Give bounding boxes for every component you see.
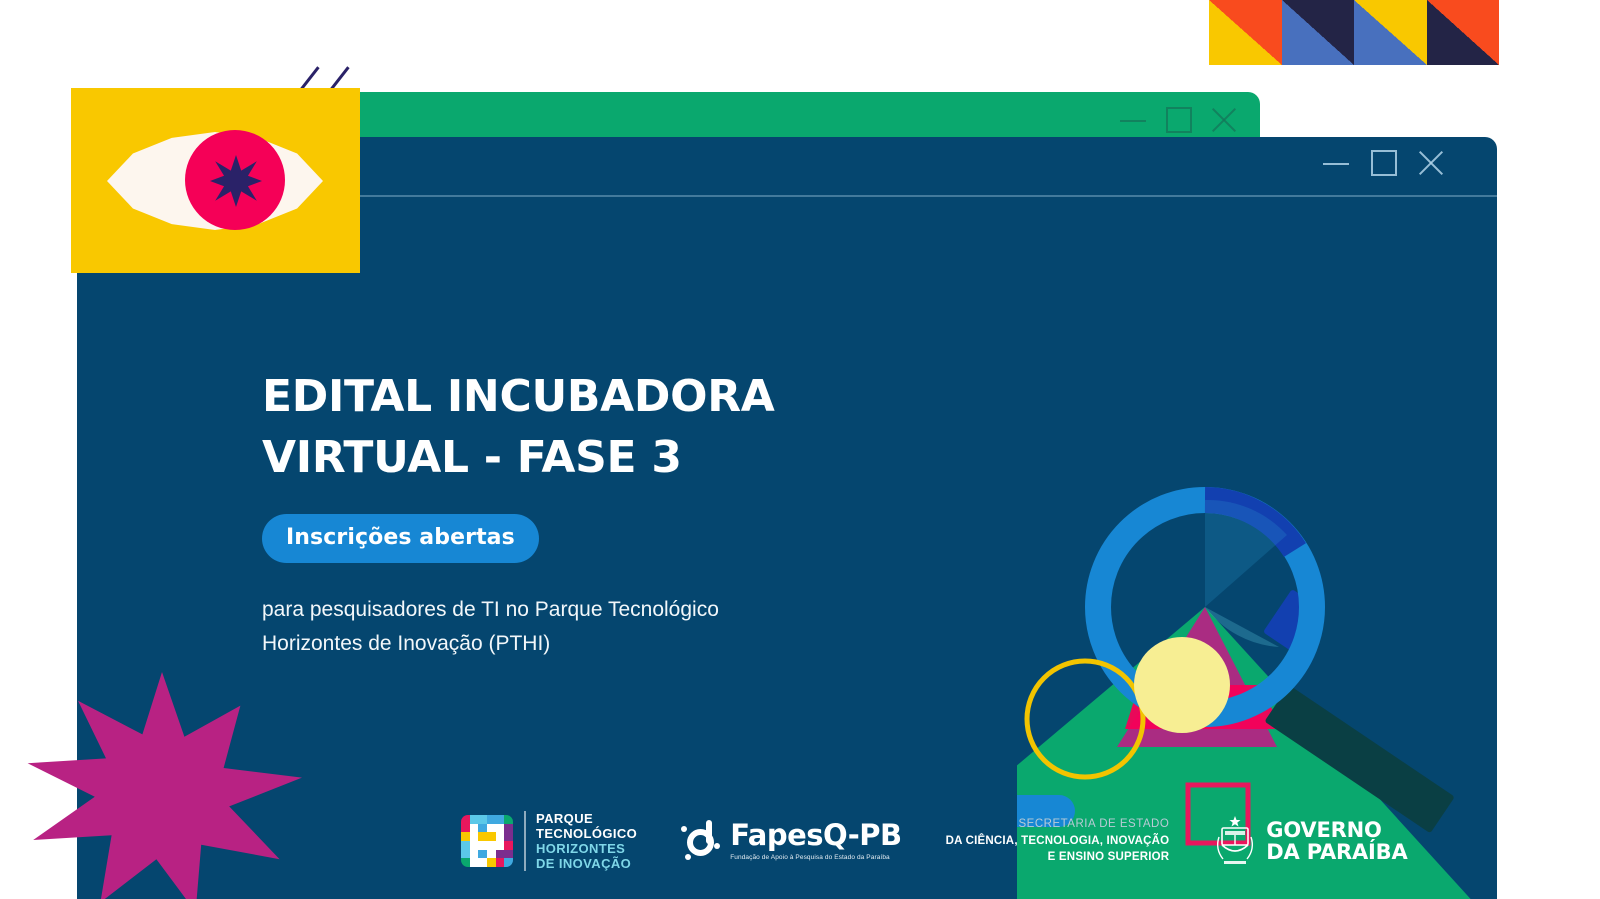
eye-illustration-card (71, 88, 360, 273)
partner-logo-strip: PARQUE TECNOLÓGICO HORIZONTES DE INOVAÇÃ… (461, 811, 1408, 871)
close-icon[interactable] (1417, 149, 1445, 177)
parque-tecnologico-wordmark: PARQUE TECNOLÓGICO HORIZONTES DE INOVAÇÃ… (524, 811, 637, 871)
fapesq-dot-1 (681, 826, 687, 832)
fapesq-wordmark: FapesQ-PB Fundação de Apoio à Pesquisa d… (730, 821, 901, 861)
subtitle-line-1: para pesquisadores de TI no Parque Tecno… (262, 598, 719, 621)
paraiba-coat-of-arms-icon (1213, 815, 1257, 867)
close-icon[interactable] (1210, 106, 1238, 134)
logo-parque-tecnologico: PARQUE TECNOLÓGICO HORIZONTES DE INOVAÇÃ… (461, 811, 637, 871)
subtitle-text: para pesquisadores de TI no Parque Tecno… (262, 593, 822, 659)
logo-secretaria: SECRETARIA DE ESTADO DA CIÊNCIA, TECNOLO… (946, 816, 1170, 865)
poster-canvas: EDITAL INCUBADORA VIRTUAL - FASE 3 Inscr… (0, 0, 1600, 899)
fapesq-dot-3 (685, 854, 691, 860)
main-window-controls (1321, 149, 1445, 177)
pt-line-4: DE INOVAÇÃO (536, 856, 637, 871)
yellow-filled-circle (1134, 637, 1230, 733)
fapesq-ring (687, 829, 714, 856)
fapesq-dot-2 (714, 843, 720, 849)
maximize-icon[interactable] (1166, 107, 1192, 133)
headline-block: EDITAL INCUBADORA VIRTUAL - FASE 3 Inscr… (262, 367, 962, 660)
decor-tile-blue-yellow (1354, 0, 1427, 65)
fapesq-icon (681, 820, 721, 862)
secretaria-line-3: E ENSINO SUPERIOR (946, 849, 1170, 865)
parque-tecnologico-icon (461, 815, 513, 867)
decor-tile-navy-orange (1427, 0, 1500, 65)
fapesq-subtitle: Fundação de Apoio à Pesquisa do Estado d… (730, 854, 901, 861)
headline-line-1: EDITAL INCUBADORA (262, 371, 775, 422)
green-window-controls (1118, 106, 1238, 134)
eye-pupil-star-icon (210, 155, 262, 207)
headline-line-2: VIRTUAL - FASE 3 (262, 428, 962, 489)
logo-fapesq: FapesQ-PB Fundação de Apoio à Pesquisa d… (681, 820, 901, 862)
pt-line-2: TECNOLÓGICO (536, 826, 637, 841)
pt-line-3: HORIZONTES (536, 841, 637, 856)
subtitle-line-2: Horizontes de Inovação (PTHI) (262, 632, 550, 655)
governo-line-1: GOVERNO (1266, 819, 1407, 841)
secretaria-line-1: SECRETARIA DE ESTADO (946, 816, 1170, 832)
minimize-icon[interactable] (1321, 155, 1351, 171)
minimize-icon[interactable] (1118, 112, 1148, 128)
corner-decoration-tiles (1209, 0, 1499, 65)
decor-tile-yellow-orange (1209, 0, 1282, 65)
logo-governo-paraiba: GOVERNO DA PARAÍBA (1213, 815, 1407, 867)
fapesq-name: FapesQ-PB (730, 821, 901, 850)
pt-line-1: PARQUE (536, 811, 637, 826)
governo-wordmark: GOVERNO DA PARAÍBA (1266, 819, 1407, 864)
page-title: EDITAL INCUBADORA VIRTUAL - FASE 3 (262, 367, 962, 488)
eye-shape (107, 132, 323, 230)
secretaria-line-2: DA CIÊNCIA, TECNOLOGIA, INOVAÇÃO (946, 833, 1170, 849)
decor-tile-blue-navy (1282, 0, 1355, 65)
governo-line-2: DA PARAÍBA (1266, 841, 1407, 863)
maximize-icon[interactable] (1371, 150, 1397, 176)
status-badge[interactable]: Inscrições abertas (262, 514, 539, 563)
